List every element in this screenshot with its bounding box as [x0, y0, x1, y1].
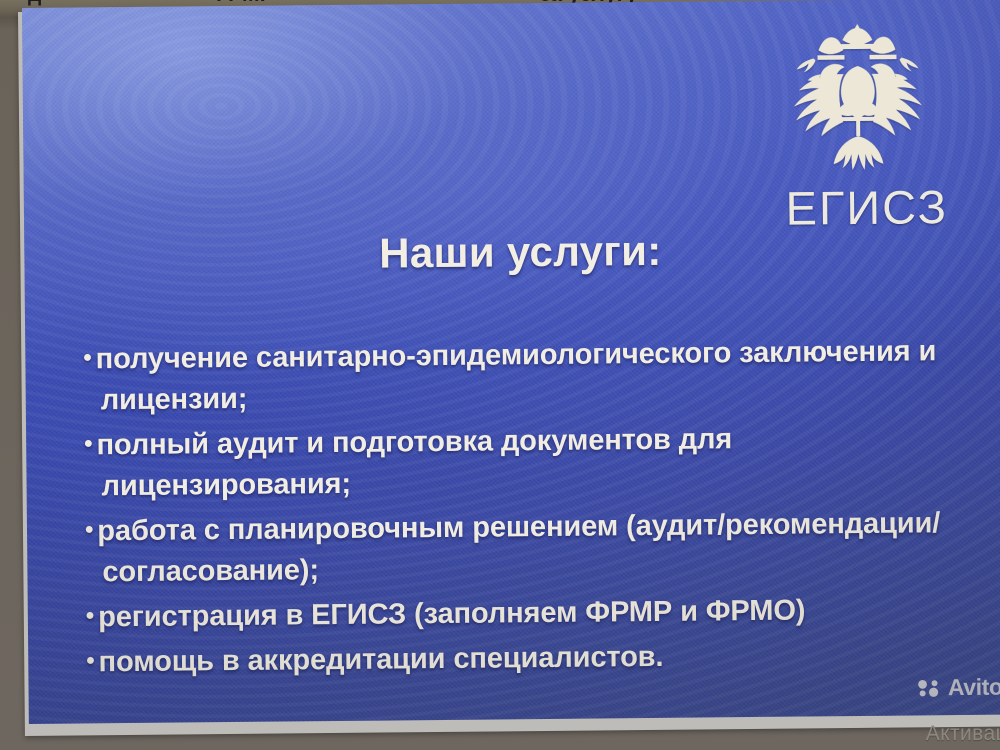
bullet-icon: • — [83, 344, 96, 371]
list-item: •регистрация в ЕГИСЗ (заполняем ФРМР и Ф… — [86, 587, 986, 639]
list-item: •получение санитарно-эпидемиологического… — [83, 329, 984, 422]
double-headed-eagle-icon — [762, 15, 954, 187]
windows-activation-notice: Активац — [926, 722, 1000, 746]
service-text: помощь в аккредитации специалистов. — [98, 641, 663, 678]
page-title: Наши услуги: — [24, 223, 1000, 281]
service-text: регистрация в ЕГИСЗ (заполняем ФРМР и ФР… — [98, 595, 806, 634]
service-text: полный аудит и подготовка документов для… — [96, 423, 732, 502]
avito-watermark: Avito — [917, 674, 1000, 702]
list-item: •полный аудит и подготовка документов дл… — [84, 415, 985, 508]
list-item: •работа с планировочным решением (аудит/… — [85, 501, 986, 594]
avito-dots-icon — [917, 678, 943, 698]
service-text: получение санитарно-эпидемиологического … — [96, 335, 937, 416]
blue-slide-panel: ЕГИСЗ Наши услуги: •получение санитарно-… — [22, 0, 1000, 724]
services-list: •получение санитарно-эпидемиологического… — [83, 329, 986, 686]
list-item: •помощь в аккредитации специалистов. — [86, 632, 986, 684]
presentation-board-wrapper: ЕГИСЗ Наши услуги: •получение санитарно-… — [0, 8, 1000, 738]
bullet-icon: • — [85, 516, 98, 543]
avito-label: Avito — [948, 674, 1000, 702]
bullet-icon: • — [84, 430, 97, 457]
photograph-of-presentation-screen: д ФРМР за услугу — [0, 0, 1000, 750]
bullet-icon: • — [86, 647, 99, 674]
top-cut-fragment-left: д — [28, 0, 42, 7]
service-text: работа с планировочным решением (аудит/р… — [97, 507, 940, 588]
bullet-icon: • — [86, 602, 99, 629]
